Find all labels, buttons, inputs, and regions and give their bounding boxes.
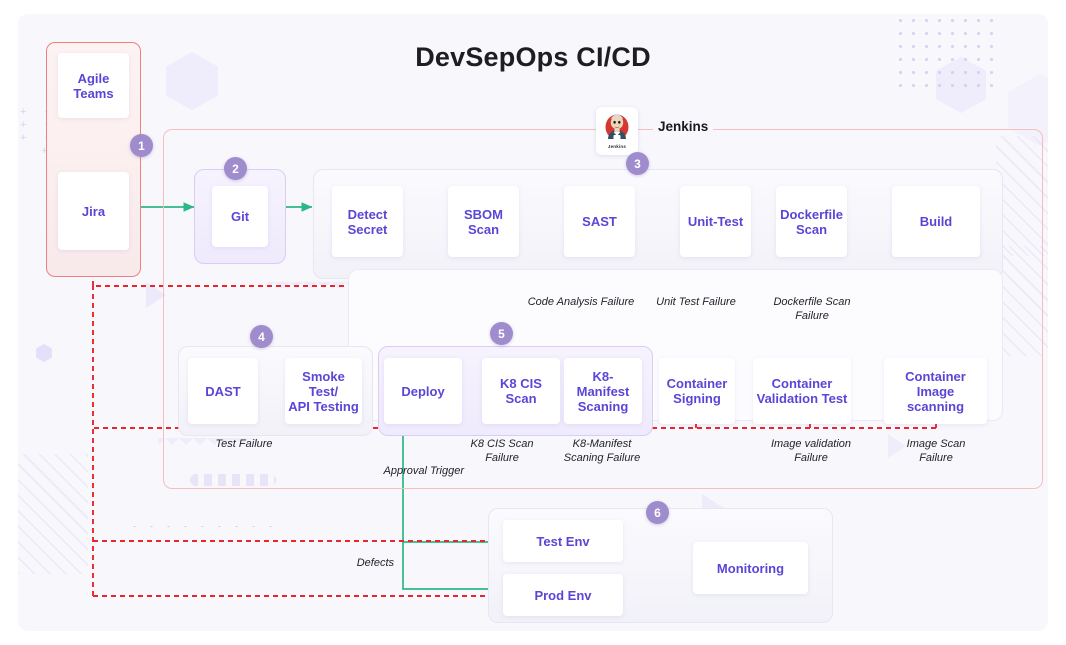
label-k8-cis-failure-line2: Failure: [485, 452, 519, 464]
label-dockerfile-scan-failure-line1: Dockerfile Scan: [773, 296, 850, 308]
label-k8-cis-failure-line1: K8 CIS Scan: [471, 438, 534, 450]
label-image-validation-failure: Image validation Failure: [742, 437, 880, 465]
label-k8-manifest-failure-line2: Scaning Failure: [564, 452, 640, 464]
label-defects: Defects: [318, 556, 394, 570]
label-k8-manifest-failure: K8-Manifest Scaning Failure: [542, 437, 662, 465]
label-image-scan-failure-line1: Image Scan: [907, 438, 966, 450]
label-code-analysis-failure: Code Analysis Failure: [508, 295, 654, 309]
label-k8-manifest-failure-line1: K8-Manifest: [573, 438, 632, 450]
label-unit-test-failure: Unit Test Failure: [636, 295, 756, 309]
badge-4: 4: [250, 325, 273, 348]
label-approval-trigger: Approval Trigger: [344, 464, 464, 478]
label-image-validation-failure-line1: Image validation: [771, 438, 851, 450]
label-dockerfile-scan-failure: Dockerfile Scan Failure: [752, 295, 872, 323]
badge-6: 6: [646, 501, 669, 524]
label-image-validation-failure-line2: Failure: [794, 452, 828, 464]
label-dockerfile-scan-failure-line2: Failure: [795, 310, 829, 322]
badge-2: 2: [224, 157, 247, 180]
diagram-canvas: + + + + + + + + + + + +: [18, 14, 1048, 631]
badge-5: 5: [490, 322, 513, 345]
label-image-scan-failure-line2: Failure: [919, 452, 953, 464]
badge-3: 3: [626, 152, 649, 175]
label-image-scan-failure: Image Scan Failure: [876, 437, 996, 465]
label-test-failure: Test Failure: [184, 437, 304, 451]
page-title: DevSepOps CI/CD: [18, 42, 1048, 73]
badge-1: 1: [130, 134, 153, 157]
